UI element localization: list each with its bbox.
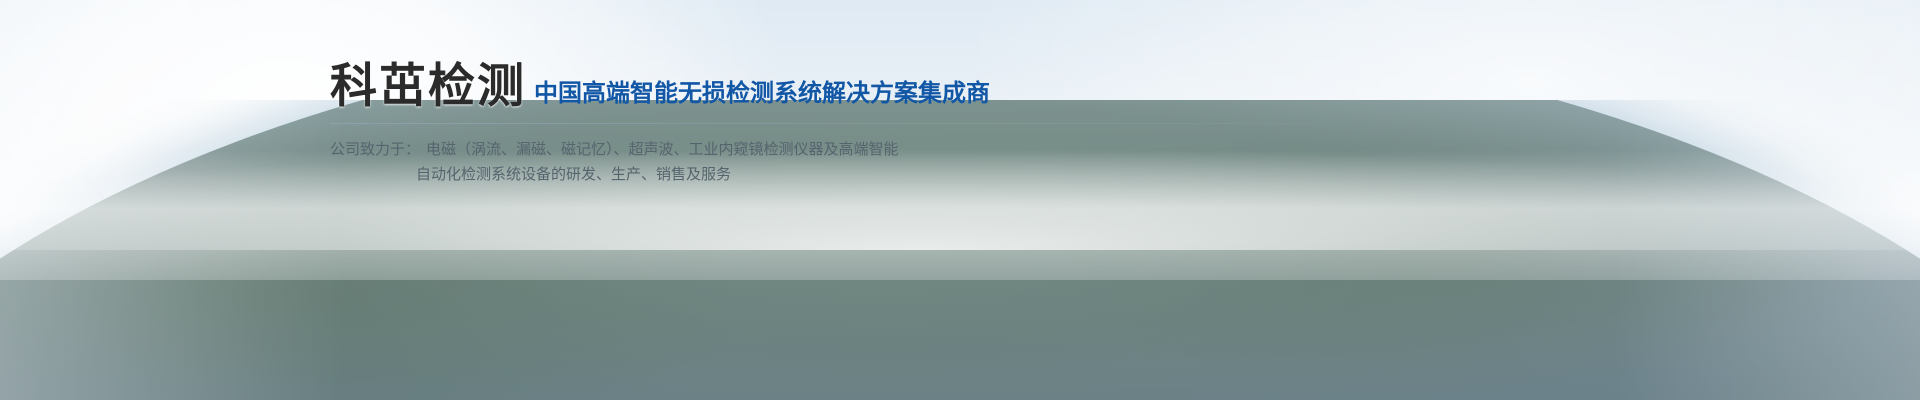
divider-line bbox=[330, 123, 1450, 124]
description-line-1: 电磁（涡流、漏磁、磁记忆）、超声波、工业内窥镜检测仪器及高端智能 bbox=[426, 141, 899, 158]
company-slogan: 中国高端智能无损检测系统解决方案集成商 bbox=[534, 82, 990, 109]
title-row: 科茁检测 中国高端智能无损检测系统解决方案集成商 bbox=[330, 62, 1430, 109]
hero-banner: 科茁检测 中国高端智能无损检测系统解决方案集成商 公司致力于：电磁（涡流、漏磁、… bbox=[0, 0, 1920, 400]
banner-text-block: 科茁检测 中国高端智能无损检测系统解决方案集成商 公司致力于：电磁（涡流、漏磁、… bbox=[330, 62, 1430, 187]
description-label: 公司致力于： bbox=[330, 141, 420, 158]
company-description: 公司致力于：电磁（涡流、漏磁、磁记忆）、超声波、工业内窥镜检测仪器及高端智能 自… bbox=[330, 137, 1430, 187]
description-line-2: 自动化检测系统设备的研发、生产、销售及服务 bbox=[330, 162, 1430, 187]
company-title: 科茁检测 bbox=[330, 62, 526, 109]
